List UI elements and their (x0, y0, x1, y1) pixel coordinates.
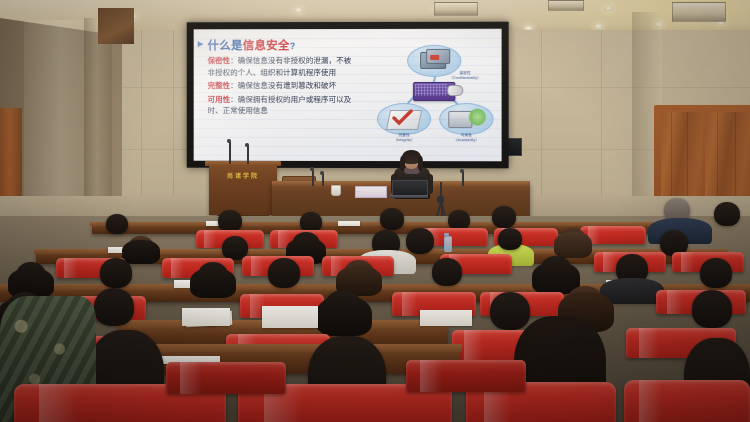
attendee-hair (554, 232, 592, 258)
microphone-head-icon (245, 143, 249, 147)
slide-bullet: 保密性：确保信息没有非授权的泄漏，不被 (208, 56, 367, 67)
bullet-arrow-icon (198, 41, 204, 47)
lectern-microphone (247, 146, 249, 164)
attendee-head (714, 202, 740, 226)
slide-body: 保密性：确保信息没有非授权的泄漏，不被 非授权的个人、组织和计算机程序使用 完整… (208, 56, 367, 118)
diagram-label-availability: 可用性 （Availability） (443, 133, 489, 142)
slide-bullet: 时、正常使用信息 (208, 106, 367, 117)
air-vent (434, 2, 478, 16)
plate-char: 院 (251, 171, 257, 180)
laptop (390, 180, 428, 198)
slide-bullet: 非授权的个人、组织和计算机程序使用 (208, 68, 367, 79)
hub-texture (415, 84, 447, 96)
desk-row-top (128, 344, 462, 352)
desk-row-top (90, 222, 654, 226)
plate-char: 学 (243, 171, 249, 180)
attendee-head (268, 258, 300, 288)
handout-paper (338, 221, 360, 226)
attendee-head (106, 214, 128, 234)
attendee-head (100, 258, 132, 288)
network-burst-icon (468, 108, 486, 126)
bullet-text: 时、正常使用信息 (208, 106, 268, 115)
attendee-head (700, 258, 732, 288)
projection-screen: 什么是信息安全? 保密性：确保信息没有非授权的泄漏，不被 非授权的个人、组织和计… (187, 22, 509, 169)
attendee-hair (316, 296, 372, 336)
mouse-icon (447, 85, 463, 96)
attendee-head (492, 206, 516, 228)
slide-bullet: 完整性：确保信息没有遭到篡改和破坏 (208, 81, 367, 92)
slide-title: 什么是信息安全? (208, 37, 296, 53)
auditorium-seat-foreground (624, 380, 750, 422)
diagram-label-integrity: 完整性 （Integrity） (381, 133, 427, 142)
attendee-head (300, 212, 322, 232)
podium-name-plate: 尚 诸 学 院 (216, 168, 268, 182)
slide-title-lead: 什么是 (208, 40, 243, 52)
ceiling-soffit-block (98, 8, 134, 44)
microphone-head-icon (310, 167, 314, 171)
attendee-head (692, 290, 732, 328)
attendee-hair (122, 240, 160, 264)
bullet-text: 非授权的个人、组织和计算机程序使用 (208, 68, 337, 77)
water-bottle (444, 236, 452, 252)
attendee-head (448, 210, 470, 230)
slide-title-highlight: 信息安全 (243, 40, 290, 52)
diagram-label-confidentiality: 保密性 （Confidentiality） (449, 71, 481, 80)
auditorium-seat-backrest (406, 360, 526, 392)
attendee-head (432, 258, 462, 286)
presenter-hair-side (400, 156, 405, 171)
attendee-head (218, 210, 242, 232)
slide-title-question: ? (290, 41, 296, 51)
label-en: （Confidentiality） (449, 76, 481, 81)
slide-surface: 什么是信息安全? 保密性：确保信息没有非授权的泄漏，不被 非授权的个人、组织和计… (194, 29, 502, 162)
microphone-head-icon (320, 171, 324, 175)
air-vent (548, 0, 584, 11)
handout-paper (420, 310, 472, 326)
air-vent (672, 2, 726, 22)
microphone-head-icon (227, 139, 231, 143)
ceiling-light-icon (594, 24, 603, 29)
water-cup (331, 185, 341, 196)
bullet-text: ：确保信息没有非授权的泄漏，不被 (230, 56, 351, 65)
bullet-key: 可用性 (208, 95, 231, 104)
bullet-key: 保密性 (208, 56, 231, 65)
slide-bullet: 可用性：确保拥有授权的用户或程序可以及 (208, 95, 367, 106)
table-microphone (322, 174, 324, 186)
table-microphone (312, 170, 314, 186)
bullet-text: ：确保信息没有遭到篡改和破坏 (230, 81, 336, 90)
name-placard-text: … (357, 188, 361, 193)
attendee-head (490, 292, 530, 330)
server-accent (430, 55, 439, 60)
lectern-top (205, 161, 281, 166)
lecture-hall-photo: 什么是信息安全? 保密性：确保信息没有非授权的泄漏，不被 非授权的个人、组织和计… (0, 0, 750, 422)
attendee-head (94, 288, 134, 326)
label-en: （Availability） (443, 138, 489, 143)
attendee-head (380, 208, 404, 230)
bullet-text: ：确保拥有授权的用户或程序可以及 (230, 95, 351, 104)
plate-char: 尚 (227, 171, 233, 180)
bullet-key: 完整性 (208, 81, 231, 90)
presenter-hair-side (418, 156, 423, 171)
diagram-node-availability (439, 103, 493, 135)
microphone-head-icon (460, 169, 464, 173)
notebook-page (182, 308, 230, 326)
laptop-keyboard (390, 195, 428, 198)
diagram-node-integrity (377, 103, 431, 135)
cia-triad-diagram: 保密性 （Confidentiality） 完整性 （Integrity） 可用… (375, 45, 498, 149)
auditorium-seat-backrest (166, 362, 286, 394)
attendee-head (498, 228, 522, 250)
checkmark-icon (391, 109, 414, 126)
notebook-page (262, 306, 318, 328)
attendee-hair (190, 268, 236, 298)
attendee-head (406, 228, 434, 254)
ceiling-light-icon (604, 6, 613, 11)
lectern-microphone (229, 142, 231, 164)
tripod-column (440, 182, 442, 200)
ceiling-light-icon (294, 8, 303, 13)
table-microphone (462, 172, 464, 186)
plate-char: 诸 (235, 171, 241, 180)
label-en: （Integrity） (381, 138, 427, 143)
bottle-cap (444, 233, 449, 236)
